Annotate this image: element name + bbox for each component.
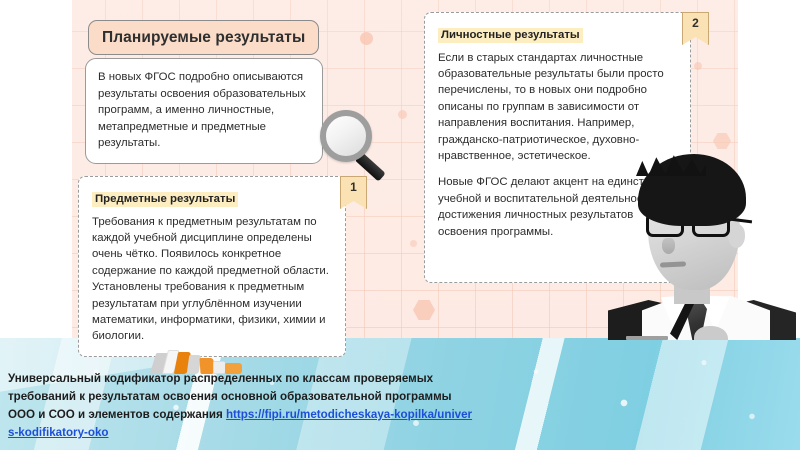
dot-decoration (398, 110, 407, 119)
jacket-pocket (626, 336, 668, 340)
card-body-text-1: Если в старых стандартах личностные обра… (438, 50, 678, 165)
page-title-label: Планируемые результаты (102, 29, 305, 47)
card-heading: Личностные результаты (438, 28, 583, 43)
nose (662, 238, 675, 254)
magnifier-lens (320, 110, 372, 162)
slide-canvas: Планируемые результаты В новых ФГОС подр… (0, 0, 800, 450)
card-subject-results: Предметные результаты Требования к предм… (78, 176, 346, 357)
schoolboy-photo (600, 150, 800, 340)
dot-decoration (360, 32, 373, 45)
intro-card: В новых ФГОС подробно описываются резуль… (85, 58, 323, 164)
magnifier-icon (318, 108, 392, 182)
intro-card-text: В новых ФГОС подробно описываются резуль… (98, 69, 311, 152)
dot-decoration (410, 240, 417, 247)
dot-decoration (694, 62, 702, 70)
caption: Универсальный кодификатор распределенных… (8, 370, 478, 442)
page-title: Планируемые результаты (88, 20, 319, 55)
card-body-text: Требования к предметным результатам по к… (92, 214, 333, 345)
card-heading: Предметные результаты (92, 192, 238, 207)
